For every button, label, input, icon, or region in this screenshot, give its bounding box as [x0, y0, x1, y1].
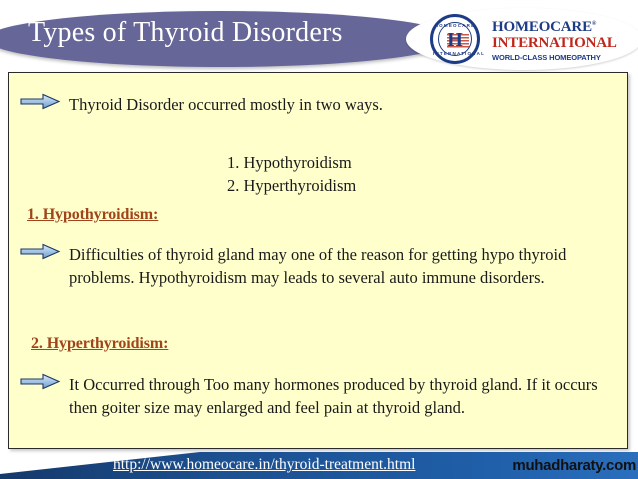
list-item: 1. Hypothyroidism: [227, 151, 356, 174]
section-heading-hyperthyroidism: 2. Hyperthyroidism:: [31, 335, 168, 353]
list-item: 2. Hyperthyroidism: [227, 174, 356, 197]
logo-wordmark-line2: INTERNATIONAL: [492, 35, 638, 51]
intro-bullet-text: Thyroid Disorder occurred mostly in two …: [69, 93, 489, 116]
footer-url-link[interactable]: http://www.homeocare.in/thyroid-treatmen…: [113, 455, 415, 475]
slide-canvas: Types of Thyroid Disorders HOMEOCARE H I…: [0, 0, 638, 479]
numbered-list: 1. Hypothyroidism 2. Hyperthyroidism: [227, 151, 356, 197]
registered-mark-icon: ®: [592, 21, 596, 27]
logo-wordmark-line1: HOMEOCARE®: [492, 16, 638, 35]
hypothyroidism-bullet-text: Difficulties of thyroid gland may one of…: [69, 243, 621, 289]
logo-badge-arc-top: HOMEOCARE: [433, 23, 477, 28]
logo: HOMEOCARE H INTERNATIONAL HOMEOCARE® INT…: [406, 8, 638, 70]
logo-badge-monogram: H: [433, 29, 477, 51]
section-heading-hypothyroidism: 1. Hypothyroidism:: [27, 206, 158, 224]
watermark-text: muhadharaty.com: [512, 456, 636, 475]
footer-banner: http://www.homeocare.in/thyroid-treatmen…: [0, 452, 638, 479]
arrow-right-icon: [19, 373, 61, 390]
logo-badge-icon: HOMEOCARE H INTERNATIONAL: [430, 14, 480, 64]
hyperthyroidism-bullet-row: It Occurred through Too many hormones pr…: [19, 373, 619, 419]
hyperthyroidism-bullet-text: It Occurred through Too many hormones pr…: [69, 373, 621, 419]
logo-tagline: WORLD-CLASS HOMEOPATHY: [492, 52, 638, 63]
content-panel: Thyroid Disorder occurred mostly in two …: [8, 72, 628, 449]
arrow-right-icon: [19, 243, 61, 260]
arrow-right-icon: [19, 93, 61, 110]
hypothyroidism-bullet-row: Difficulties of thyroid gland may one of…: [19, 243, 619, 289]
page-title: Types of Thyroid Disorders: [28, 13, 448, 53]
logo-wordmark: HOMEOCARE® INTERNATIONAL WORLD-CLASS HOM…: [492, 16, 638, 63]
intro-bullet-row: Thyroid Disorder occurred mostly in two …: [19, 93, 614, 116]
logo-wordmark-line1-text: HOMEOCARE: [492, 19, 592, 35]
logo-badge-arc-bottom: INTERNATIONAL: [433, 51, 477, 56]
